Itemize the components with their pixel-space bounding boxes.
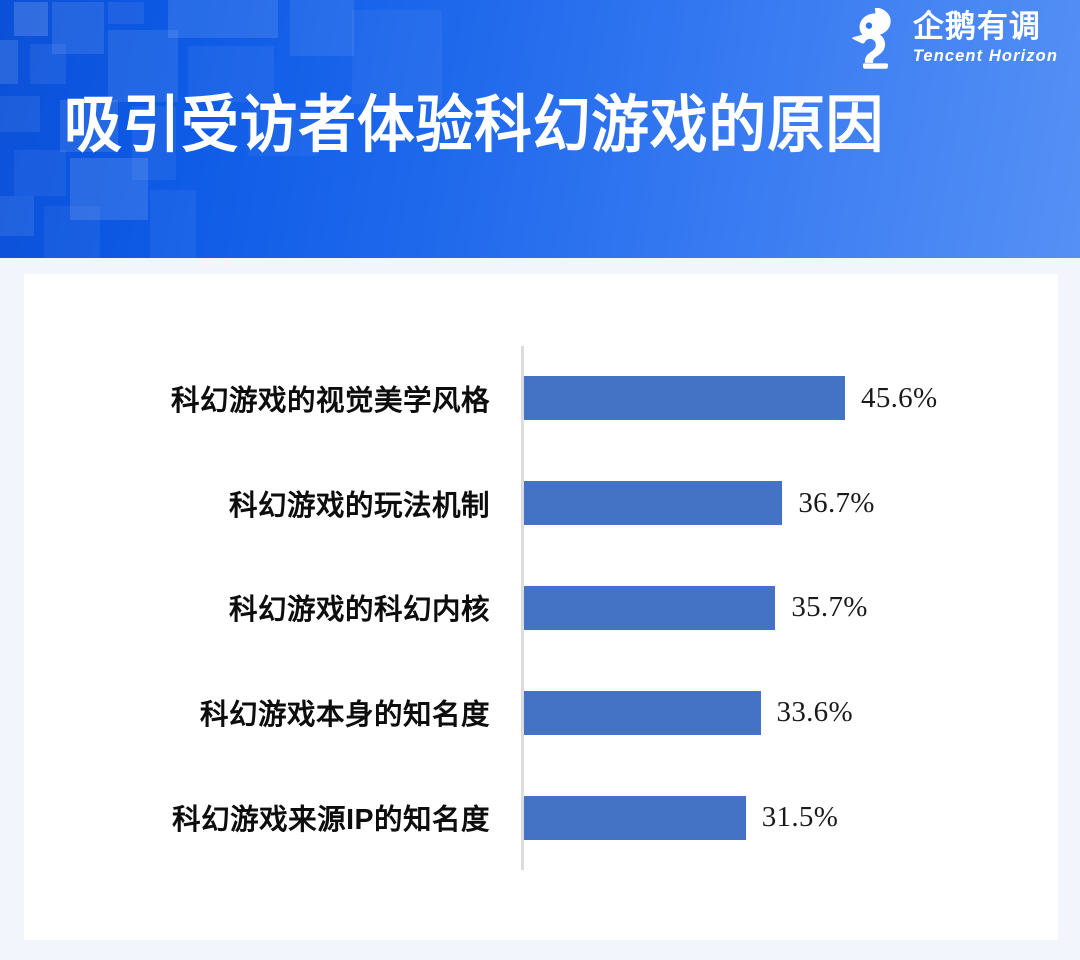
value-label: 31.5% (762, 801, 838, 834)
page-title: 吸引受访者体验科幻游戏的原因 (64, 92, 884, 160)
value-label: 36.7% (798, 487, 874, 520)
chart-row: 科幻游戏来源IP的知名度31.5% (24, 765, 1058, 870)
value-label: 35.7% (791, 591, 867, 624)
chart-row: 科幻游戏的科幻内核35.7% (24, 556, 1058, 661)
brand-name-en: Tencent Horizon (913, 48, 1058, 65)
bar (524, 586, 775, 630)
bar (524, 376, 845, 420)
value-label: 45.6% (861, 382, 937, 415)
category-label: 科幻游戏本身的知名度 (84, 692, 490, 733)
bar (524, 691, 761, 735)
horizontal-bar-chart: 科幻游戏的视觉美学风格45.6%科幻游戏的玩法机制36.7%科幻游戏的科幻内核3… (24, 274, 1058, 940)
chart-row: 科幻游戏的视觉美学风格45.6% (24, 346, 1058, 451)
category-label: 科幻游戏来源IP的知名度 (84, 797, 490, 838)
chart-row: 科幻游戏的玩法机制36.7% (24, 451, 1058, 556)
brand-logo: 企鹅有调 Tencent Horizon (843, 8, 1058, 70)
penguin-logo-icon (843, 8, 905, 70)
category-label: 科幻游戏的科幻内核 (84, 587, 490, 628)
chart-card: 科幻游戏的视觉美学风格45.6%科幻游戏的玩法机制36.7%科幻游戏的科幻内核3… (24, 274, 1058, 940)
category-label: 科幻游戏的视觉美学风格 (84, 378, 490, 419)
chart-rows: 科幻游戏的视觉美学风格45.6%科幻游戏的玩法机制36.7%科幻游戏的科幻内核3… (24, 346, 1058, 870)
bar (524, 796, 746, 840)
category-label: 科幻游戏的玩法机制 (84, 483, 490, 524)
brand-name-cn: 企鹅有调 (913, 11, 1041, 42)
bar (524, 481, 782, 525)
header-banner: 企鹅有调 Tencent Horizon 吸引受访者体验科幻游戏的原因 (0, 0, 1080, 258)
value-label: 33.6% (777, 696, 853, 729)
chart-row: 科幻游戏本身的知名度33.6% (24, 660, 1058, 765)
